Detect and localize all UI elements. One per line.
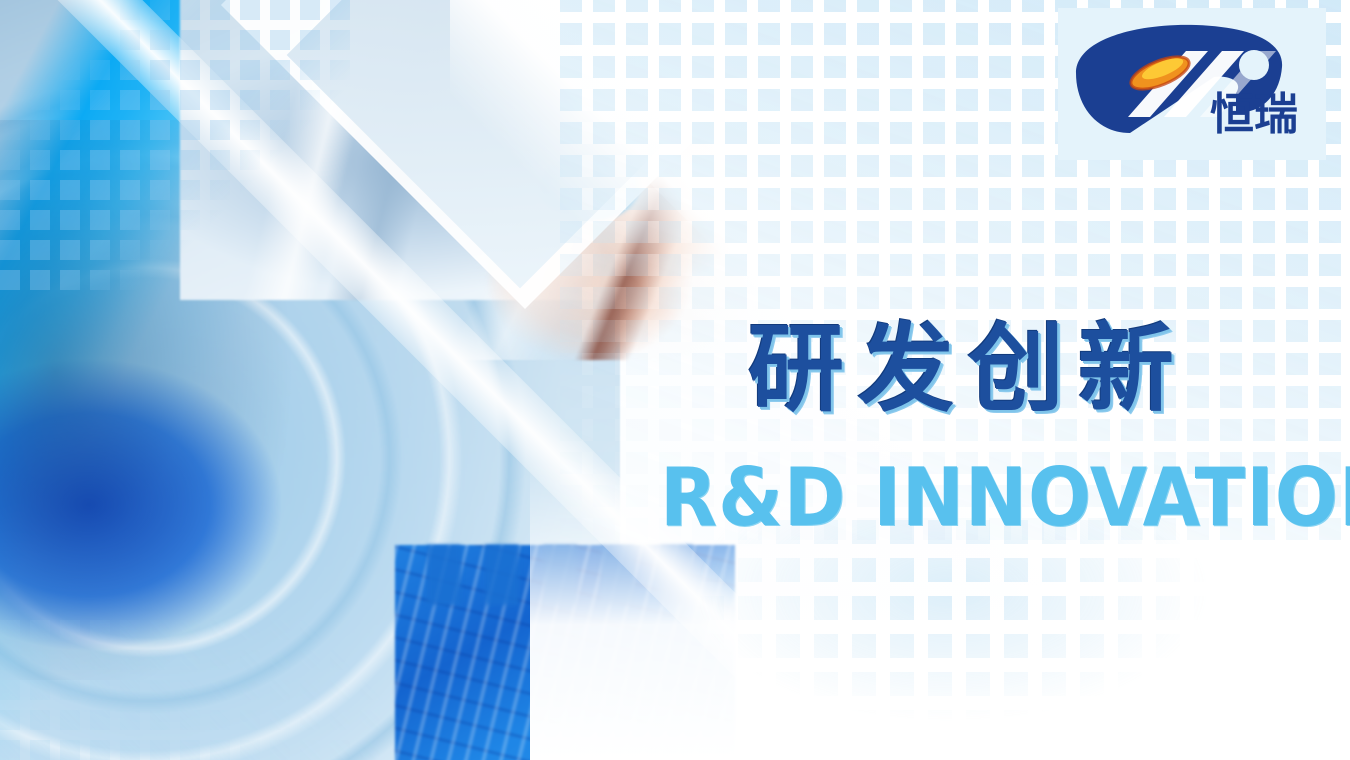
logo-brand-text: 恒瑞: [1210, 89, 1298, 140]
logo-notch: [1239, 50, 1269, 80]
headline-chinese: 研发创新: [748, 322, 1188, 418]
hengrui-logo-icon: 恒瑞: [1068, 21, 1316, 147]
mosaic-pattern-bottom-left: [0, 620, 420, 760]
logo-panel[interactable]: 恒瑞: [1058, 8, 1326, 160]
mosaic-pattern-top-left: [0, 0, 360, 300]
headline-english: R&D INNOVATION: [660, 458, 1350, 538]
banner-root: 恒瑞 研发创新 R&D INNOVATION: [0, 0, 1350, 760]
mosaic-pattern-scatter: [700, 520, 1350, 760]
